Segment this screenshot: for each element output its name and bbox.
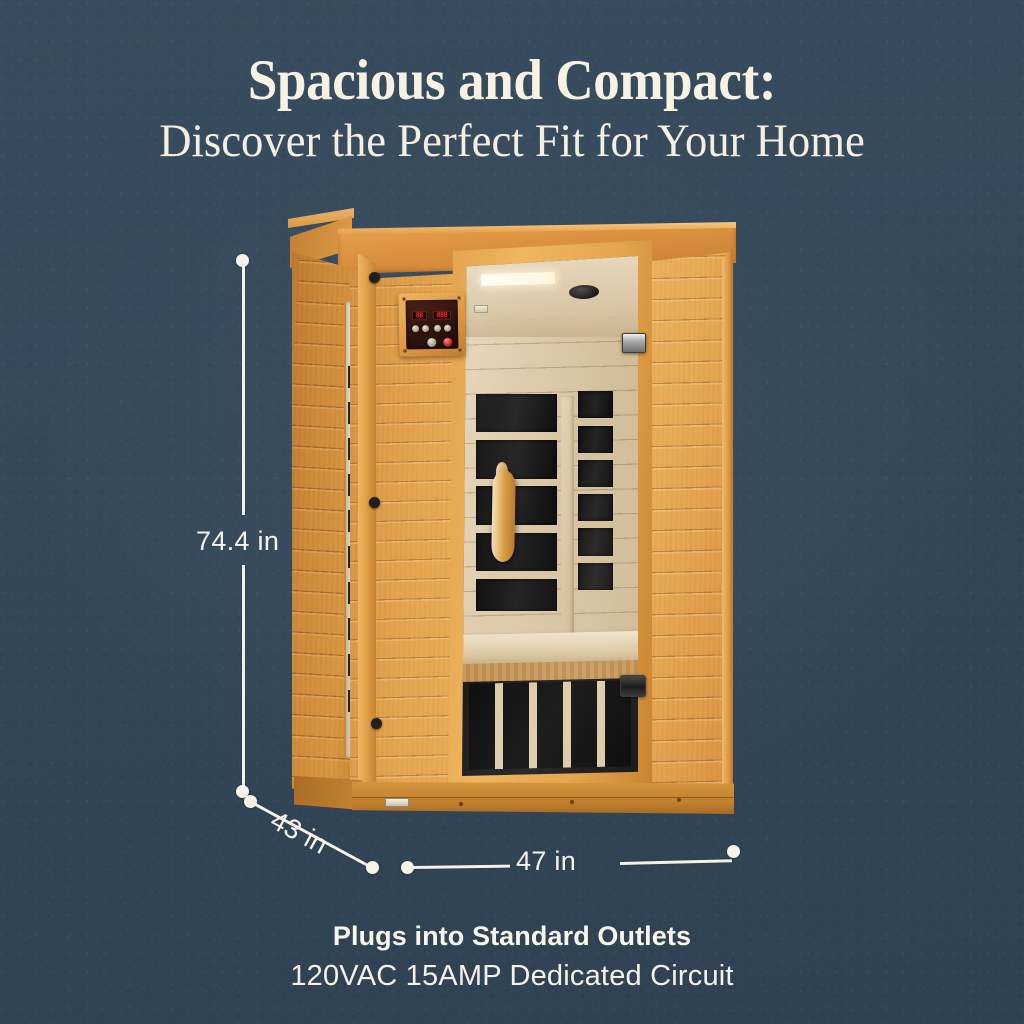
promo-graphic: Spacious and Compact: Discover the Perfe… <box>0 0 1024 1024</box>
side-hinge-middle <box>369 497 380 508</box>
heater-panel <box>476 440 557 478</box>
interior-light-bar <box>481 272 555 287</box>
sauna-bench-front-edge <box>462 660 638 682</box>
height-dim-label: 74.4 in <box>196 526 279 557</box>
door-handle[interactable] <box>491 470 516 562</box>
side-hinge-upper <box>369 272 380 283</box>
heater-panel <box>476 579 557 611</box>
base-screw <box>570 800 574 804</box>
heater-panel <box>476 394 557 432</box>
panel-screw <box>403 349 406 352</box>
heater-panel <box>578 494 613 521</box>
sauna-base-front <box>352 782 734 814</box>
control-button[interactable] <box>434 325 441 332</box>
sauna-product-image: 88 888 <box>0 0 1024 1024</box>
heater-panel <box>578 460 613 487</box>
panel-screw <box>403 297 406 300</box>
timer-display: 888 <box>433 311 451 320</box>
interior-wall-plate <box>474 305 488 313</box>
heater-panel <box>578 426 613 453</box>
control-panel[interactable]: 88 888 <box>398 292 465 356</box>
heater-panel <box>476 533 557 571</box>
control-button[interactable] <box>427 338 436 347</box>
temperature-display: 88 <box>412 311 427 320</box>
side-hinge-lower <box>371 718 382 729</box>
panel-screw <box>458 348 461 351</box>
control-button[interactable] <box>412 325 419 332</box>
width-dim-label: 47 in <box>516 846 576 877</box>
heater-panel <box>578 391 613 418</box>
heater-panel <box>578 563 613 590</box>
base-screw <box>459 802 463 806</box>
footer-headline: Plugs into Standard Outlets <box>0 921 1024 952</box>
product-sticker <box>385 798 409 807</box>
sauna-base-left <box>294 776 362 810</box>
sauna-door-glass <box>462 256 638 776</box>
control-button[interactable] <box>422 325 429 332</box>
control-button[interactable] <box>444 325 451 332</box>
height-dim-line-upper <box>242 265 245 515</box>
power-button[interactable] <box>443 338 452 347</box>
height-dim-line-lower <box>242 565 245 789</box>
width-dim-endpoint-right <box>727 845 740 858</box>
base-screw <box>677 798 681 802</box>
under-bench-heater-bank <box>469 681 631 770</box>
control-panel-face: 88 888 <box>406 300 459 350</box>
panel-screw <box>458 296 461 299</box>
interior-divider-post <box>561 396 574 635</box>
heater-panel <box>578 528 613 555</box>
door-hinge-top <box>622 333 646 353</box>
depth-dim-endpoint-end <box>366 861 379 874</box>
ceiling-speaker-icon <box>569 284 599 299</box>
door-latch-bottom <box>620 675 646 697</box>
sauna-right-edge <box>722 250 733 810</box>
heater-panel <box>476 486 557 524</box>
footer-detail: 120VAC 15AMP Dedicated Circuit <box>0 960 1024 993</box>
